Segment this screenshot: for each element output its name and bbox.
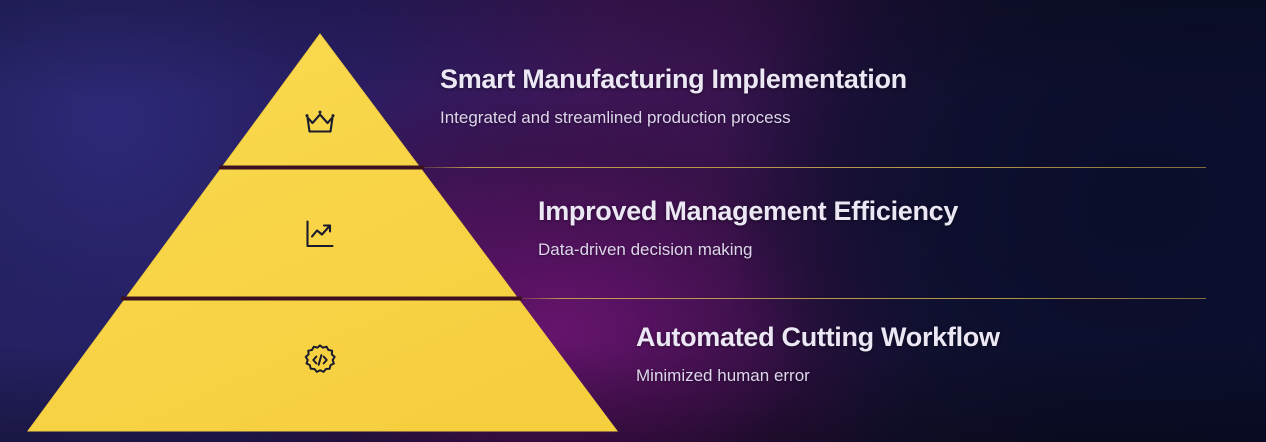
tier-divider-rule-2: [522, 298, 1206, 299]
chart-growth-icon: [298, 212, 342, 256]
code-gear-icon: [298, 338, 342, 382]
tier-text-block-3: Automated Cutting Workflow Minimized hum…: [636, 322, 1000, 386]
tier-subtitle-2: Data-driven decision making: [538, 240, 958, 260]
tier-text-block-2: Improved Management Efficiency Data-driv…: [538, 196, 958, 260]
tier-subtitle-1: Integrated and streamlined production pr…: [440, 108, 907, 128]
tier-text-block-1: Smart Manufacturing Implementation Integ…: [440, 64, 907, 128]
pyramid-infographic: Smart Manufacturing Implementation Integ…: [0, 0, 1266, 442]
tier-divider-rule-1: [424, 167, 1206, 168]
tier-subtitle-3: Minimized human error: [636, 366, 1000, 386]
crown-icon: [298, 100, 342, 144]
tier-title-1: Smart Manufacturing Implementation: [440, 64, 907, 95]
tier-title-3: Automated Cutting Workflow: [636, 322, 1000, 353]
tier-title-2: Improved Management Efficiency: [538, 196, 958, 227]
